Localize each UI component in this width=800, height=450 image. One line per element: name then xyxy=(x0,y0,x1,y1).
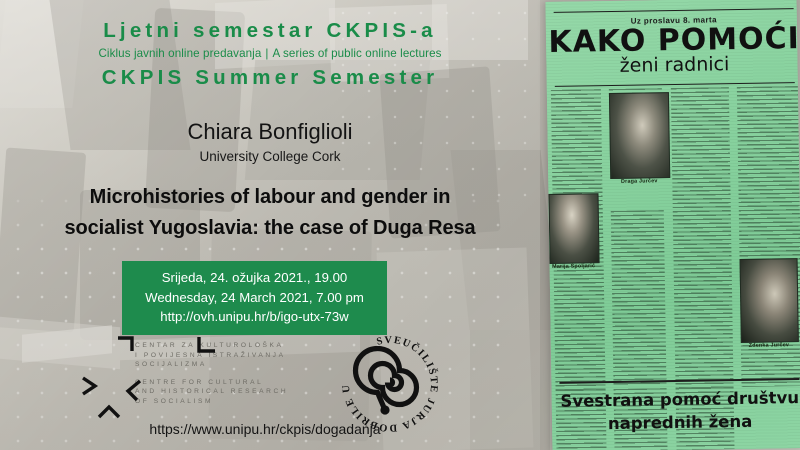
decor-bracket-3 xyxy=(80,375,100,397)
centre-name-block: CENTAR ZA KULTUROLOŠKA I POVIJESNA ISTRA… xyxy=(135,341,350,406)
clipping-footer: Svestrana pomoć društvu naprednih žena xyxy=(546,386,800,436)
centre-hr-line1: CENTAR ZA KULTUROLOŠKA xyxy=(135,341,350,351)
speaker-block: Chiara Bonfiglioli University College Co… xyxy=(0,118,540,167)
clipping-photo-2-caption: Marija Špoljarić xyxy=(546,263,602,270)
centre-hr-line2: I POVIJESNA ISTRAŽIVANJA xyxy=(135,351,350,361)
centre-en-line1: CENTRE FOR CULTURAL xyxy=(135,378,350,388)
speaker-affiliation: University College Cork xyxy=(0,147,540,167)
decor-bracket-5 xyxy=(96,404,122,420)
event-info-box: Srijeda, 24. ožujka 2021., 19.00 Wednesd… xyxy=(122,261,387,335)
clipping-footer-line1: Svestrana pomoć društvu xyxy=(546,386,800,413)
clipping-photo-1-caption: Draga Jurčev xyxy=(610,178,668,185)
header-subtitle-en: A series of public online lectures xyxy=(273,47,442,60)
clipping-subhead: ženi radnici xyxy=(545,52,800,78)
newspaper-clipping: Uz proslavu 8. marta KAKO POMOĆI ženi ra… xyxy=(545,0,800,450)
decor-bracket-1 xyxy=(116,336,138,354)
header-subtitle: Ciklus javnih online predavanja|A series… xyxy=(0,44,540,64)
header-title-hr: Ljetni semestar CKPIS-a xyxy=(0,18,540,44)
svg-text:SVEUČILIŠTE JURJA DOBRILE U PU: SVEUČILIŠTE JURJA DOBRILE U PULI xyxy=(336,330,440,433)
lecture-title-line2: socialist Yugoslavia: the case of Duga R… xyxy=(14,213,526,244)
clipping-footer-line2: naprednih žena xyxy=(546,409,800,436)
lecture-title: Microhistories of labour and gender in s… xyxy=(14,182,526,244)
poster-canvas: Ljetni semestar CKPIS-a Ciklus javnih on… xyxy=(0,0,800,450)
speaker-name: Chiara Bonfiglioli xyxy=(0,118,540,146)
header-subtitle-separator: | xyxy=(261,47,272,60)
event-join-link[interactable]: http://ovh.unipu.hr/b/igo-utx-73w xyxy=(132,307,377,327)
decor-bracket-2 xyxy=(195,335,219,355)
clipping-photo-2 xyxy=(548,193,599,264)
footer-url[interactable]: https://www.unipu.hr/ckpis/dogadanja xyxy=(0,421,530,437)
centre-en-line3: OF SOCIALISM xyxy=(135,397,350,407)
clipping-photo-3 xyxy=(740,258,799,343)
header-subtitle-hr: Ciklus javnih online predavanja xyxy=(98,47,261,60)
clipping-photo-3-caption: Zdenka Jurčev xyxy=(741,342,797,349)
event-datetime-hr: Srijeda, 24. ožujka 2021., 19.00 xyxy=(132,268,377,288)
event-datetime-en: Wednesday, 24 March 2021, 7.00 pm xyxy=(132,288,377,308)
centre-en-line2: AND HISTORICAL RESEARCH xyxy=(135,387,350,397)
header-title-en: CKPIS Summer Semester xyxy=(0,64,540,92)
header-block: Ljetni semestar CKPIS-a Ciklus javnih on… xyxy=(0,18,540,92)
decor-bracket-4 xyxy=(124,378,144,402)
lecture-title-line1: Microhistories of labour and gender in xyxy=(14,182,526,213)
clipping-photo-1 xyxy=(609,92,670,179)
centre-hr-line3: SOCIJALIZMA xyxy=(135,360,350,370)
